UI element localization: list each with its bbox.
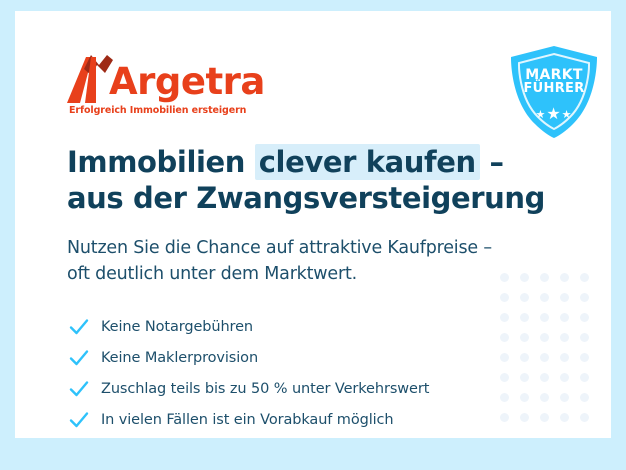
- check-icon: [68, 378, 90, 400]
- decorative-dot: [520, 393, 529, 402]
- brand-logo[interactable]: Argetra Erfolgreich Immobilien ersteiger…: [67, 51, 265, 116]
- benefit-item: Keine Notargebühren: [68, 311, 429, 342]
- check-icon: [68, 409, 90, 431]
- decorative-dot: [580, 313, 589, 322]
- benefit-label: Keine Maklerprovision: [101, 350, 258, 366]
- decorative-dot: [520, 333, 529, 342]
- benefit-label: Keine Notargebühren: [101, 319, 253, 335]
- decorative-dot: [580, 393, 589, 402]
- decorative-dot: [580, 353, 589, 362]
- headline-text-after: –: [480, 145, 504, 179]
- headline-text-before: Immobilien: [67, 145, 255, 179]
- decorative-dot: [500, 353, 509, 362]
- decorative-dot: [500, 393, 509, 402]
- decorative-dot: [500, 293, 509, 302]
- decorative-dot: [560, 393, 569, 402]
- decorative-dot: [560, 353, 569, 362]
- logo-tagline: Erfolgreich Immobilien ersteigern: [69, 105, 265, 116]
- decorative-dot: [560, 333, 569, 342]
- argetra-a-mark-icon: [67, 51, 113, 103]
- decorative-dot: [520, 373, 529, 382]
- decorative-dot: [500, 413, 509, 422]
- decorative-dot: [540, 373, 549, 382]
- decorative-dot: [500, 313, 509, 322]
- decorative-dot: [540, 413, 549, 422]
- ad-card: Argetra Erfolgreich Immobilien ersteiger…: [15, 11, 611, 438]
- headline-line-1: Immobilien clever kaufen –: [67, 145, 567, 181]
- decorative-dot: [580, 373, 589, 382]
- decorative-dot: [540, 333, 549, 342]
- decorative-dot: [580, 333, 589, 342]
- decorative-dot: [500, 373, 509, 382]
- decorative-dot: [520, 353, 529, 362]
- benefit-label: In vielen Fällen ist ein Vorabkauf mögli…: [101, 412, 394, 428]
- decorative-dot: [560, 373, 569, 382]
- headline-highlight: clever kaufen: [255, 144, 480, 180]
- headline: Immobilien clever kaufen – aus der Zwang…: [67, 145, 567, 217]
- decorative-dot: [580, 273, 589, 282]
- headline-line-2: aus der Zwangsversteigerung: [67, 181, 567, 217]
- decorative-dot: [500, 333, 509, 342]
- benefit-item: In vielen Fällen ist ein Vorabkauf mögli…: [68, 404, 429, 435]
- decorative-dot: [520, 293, 529, 302]
- benefit-item: Zuschlag teils bis zu 50 % unter Verkehr…: [68, 373, 429, 404]
- benefit-list: Keine NotargebührenKeine Maklerprovision…: [68, 311, 429, 435]
- decorative-dot: [520, 313, 529, 322]
- decorative-dot: [540, 353, 549, 362]
- benefit-item: Keine Maklerprovision: [68, 342, 429, 373]
- decorative-dot: [560, 313, 569, 322]
- subheadline-line-2: oft deutlich unter dem Marktwert.: [67, 261, 567, 287]
- ad-banner-frame: Argetra Erfolgreich Immobilien ersteiger…: [0, 0, 626, 470]
- decorative-dot: [580, 413, 589, 422]
- decorative-dot: [540, 313, 549, 322]
- logo-wordmark: Argetra: [109, 63, 265, 100]
- decorative-dot: [520, 413, 529, 422]
- check-icon: [68, 316, 90, 338]
- logo-mark-row: Argetra: [67, 51, 265, 103]
- decorative-dot: [560, 413, 569, 422]
- shield-icon: [507, 44, 601, 140]
- dot-grid-decoration: [495, 268, 595, 428]
- subheadline-line-1: Nutzen Sie die Chance auf attraktive Kau…: [67, 235, 567, 261]
- decorative-dot: [540, 393, 549, 402]
- decorative-dot: [580, 293, 589, 302]
- benefit-label: Zuschlag teils bis zu 50 % unter Verkehr…: [101, 381, 429, 397]
- decorative-dot: [540, 293, 549, 302]
- decorative-dot: [560, 293, 569, 302]
- subheadline: Nutzen Sie die Chance auf attraktive Kau…: [67, 235, 567, 288]
- market-leader-badge: MARKT FÜHRER ★★★: [507, 44, 601, 140]
- check-icon: [68, 347, 90, 369]
